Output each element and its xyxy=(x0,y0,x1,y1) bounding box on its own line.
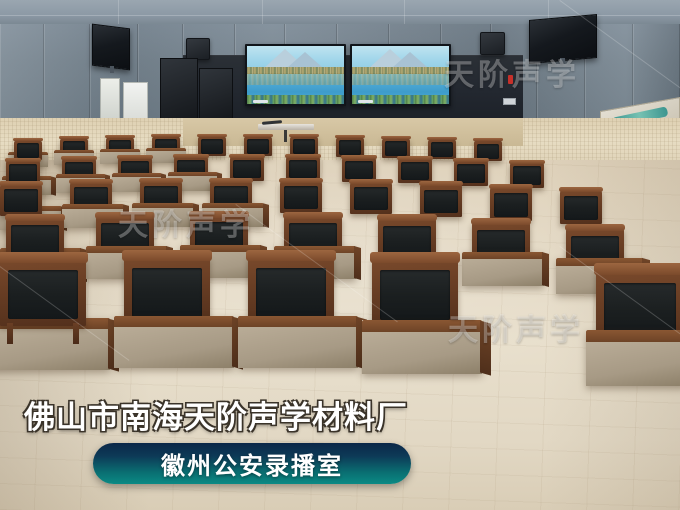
equipment-rack-a xyxy=(160,58,198,120)
wall-tv-left-icon xyxy=(92,24,130,71)
project-label-pill[interactable]: 徽州公安录播室 xyxy=(93,443,411,484)
front-display-left[interactable] xyxy=(245,44,346,106)
wall-tv-right-icon xyxy=(529,14,597,64)
tv-right-mount xyxy=(560,58,565,64)
wall-speaker-left-icon xyxy=(186,38,210,60)
front-display-right[interactable] xyxy=(350,44,451,106)
lectern-leg xyxy=(284,130,287,142)
wall-speaker-right-icon xyxy=(480,32,505,55)
photo-scene: 天阶声学 天阶声学 天阶声学 佛山市南海天阶声学材料厂 徽州公安录播室 xyxy=(0,0,680,510)
tv-left-mount xyxy=(110,66,114,73)
alarm-indicator-icon xyxy=(508,75,513,84)
company-title: 佛山市南海天阶声学材料厂 xyxy=(24,392,408,437)
wall-socket-icon xyxy=(503,98,516,105)
project-label-text: 徽州公安录播室 xyxy=(161,446,343,481)
equipment-rack-b xyxy=(199,68,233,120)
